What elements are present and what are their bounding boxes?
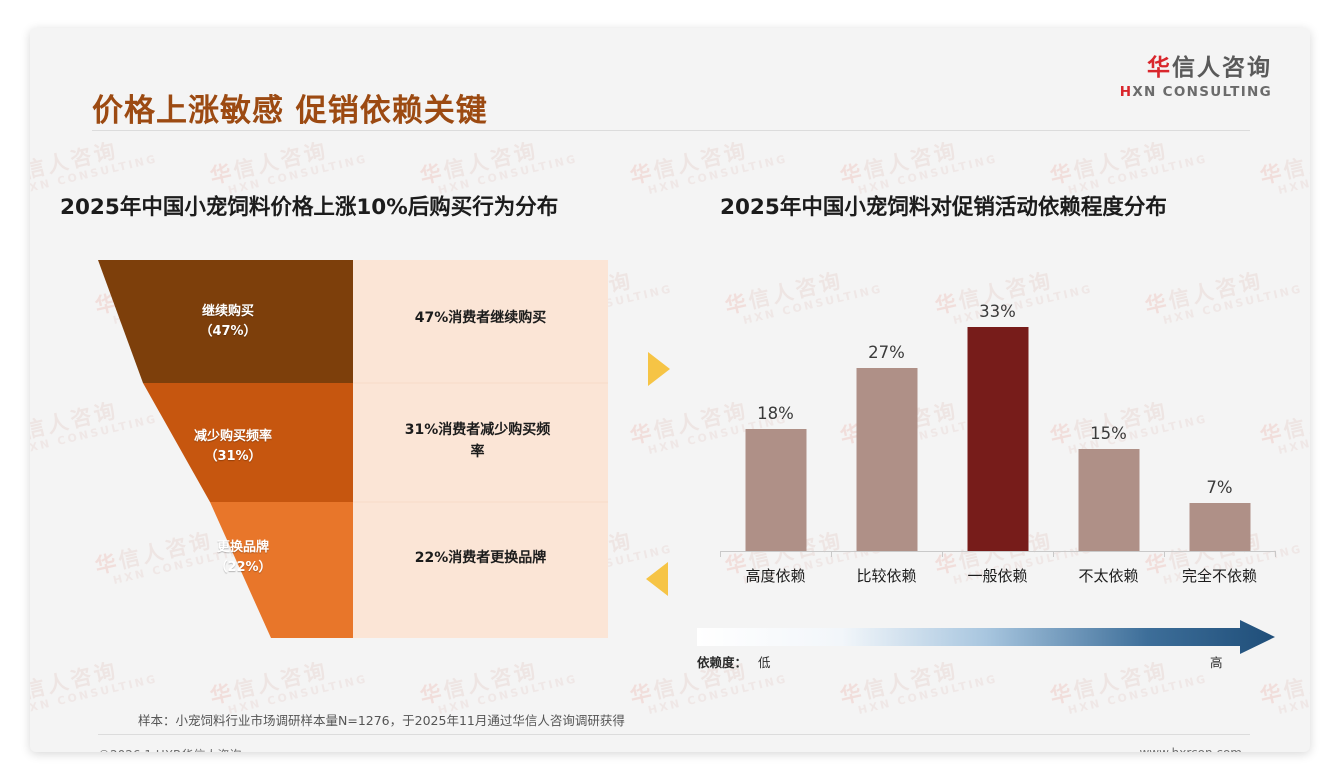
bar-value-label: 18% <box>757 404 794 423</box>
bar-axis-line <box>720 551 1275 552</box>
dependency-gradient-legend: 依赖度： 低 高 <box>690 620 1290 682</box>
footer-divider <box>98 734 1250 735</box>
watermark-tile: 华信人咨询HXN CONSULTING <box>1258 131 1310 200</box>
bar-2[interactable] <box>856 368 917 551</box>
funnel-side-note-3: 22%消费者更换品牌 <box>368 548 593 570</box>
axis-tick <box>1164 551 1165 557</box>
bar-plot-area: 18%27%33%15%7% <box>720 293 1275 551</box>
legend-low-label: 低 <box>758 652 771 671</box>
gradient-arrow-shape <box>697 620 1275 654</box>
bar-column: 15% <box>1054 293 1164 551</box>
axis-tick <box>831 551 832 557</box>
footer-copyright: ©2026.1 HXR华信人咨询 <box>98 746 241 752</box>
bar-category-1: 高度依赖 <box>721 565 831 586</box>
bar-column: 7% <box>1165 293 1275 551</box>
play-left-triangle-icon <box>646 562 668 596</box>
axis-tick <box>720 551 721 557</box>
logo-en-red-char: H <box>1120 84 1133 100</box>
bar-3[interactable] <box>967 327 1028 551</box>
funnel-stage-3-label: 更换品牌 （22%） <box>183 538 303 577</box>
axis-tick <box>942 551 943 557</box>
bar-4[interactable] <box>1078 449 1139 551</box>
bar-category-2: 比较依赖 <box>832 565 942 586</box>
slide-header: 价格上涨敏感 促销依赖关键 华信人咨询 HXN CONSULTING <box>30 28 1310 124</box>
play-right-triangle-icon <box>648 352 670 386</box>
logo-en-rest: XN CONSULTING <box>1132 84 1272 100</box>
bar-5[interactable] <box>1189 503 1250 551</box>
bar-category-5: 完全不依赖 <box>1165 565 1275 586</box>
legend-high-label: 高 <box>1210 652 1223 671</box>
bar-column: 33% <box>943 293 1053 551</box>
dependency-bar-chart: 18%27%33%15%7% 高度依赖比较依赖一般依赖不太依赖完全不依赖 <box>690 283 1290 603</box>
bar-value-label: 15% <box>1090 424 1127 443</box>
funnel-stage-1-label: 继续购买 （47%） <box>128 302 328 341</box>
funnel-stage-2-label: 减少购买频率 （31%） <box>143 427 323 466</box>
logo-cn-rest: 信人咨询 <box>1172 55 1272 81</box>
funnel-chart: 继续购买 （47%） 减少购买频率 （31%） 更换品牌 （22%） 47%消费… <box>98 260 608 638</box>
bar-value-label: 7% <box>1206 478 1232 497</box>
bar-category-3: 一般依赖 <box>943 565 1053 586</box>
axis-tick <box>1053 551 1054 557</box>
logo-english-text: HXN CONSULTING <box>1120 84 1272 100</box>
left-chart-title: 2025年中国小宠饲料价格上涨10%后购买行为分布 <box>60 190 558 221</box>
bar-value-label: 33% <box>979 302 1016 321</box>
funnel-side-note-2: 31%消费者减少购买频 率 <box>370 420 585 463</box>
footer-website[interactable]: www.hxrcon.com <box>1139 746 1242 752</box>
bar-category-4: 不太依赖 <box>1054 565 1164 586</box>
bar-1[interactable] <box>745 429 806 551</box>
funnel-side-note-1: 47%消费者继续购买 <box>368 308 593 330</box>
page-title: 价格上涨敏感 促销依赖关键 <box>92 85 488 130</box>
legend-title: 依赖度： <box>697 652 747 671</box>
gradient-arrow-icon <box>690 620 1290 654</box>
header-divider <box>92 130 1250 131</box>
bar-column: 27% <box>832 293 942 551</box>
slide-card: 华信人咨询HXN CONSULTING华信人咨询HXN CONSULTING华信… <box>30 28 1310 752</box>
right-chart-title: 2025年中国小宠饲料对促销活动依赖程度分布 <box>720 190 1167 221</box>
logo-cn-red-char: 华 <box>1147 55 1172 81</box>
logo-chinese-text: 华信人咨询 <box>1120 56 1272 81</box>
brand-logo: 华信人咨询 HXN CONSULTING <box>1120 56 1272 100</box>
axis-tick <box>1275 551 1276 557</box>
bar-column: 18% <box>721 293 831 551</box>
bar-value-label: 27% <box>868 343 905 362</box>
sample-note: 样本：小宠饲料行业市场调研样本量N=1276，于2025年11月通过华信人咨询调… <box>138 710 625 729</box>
